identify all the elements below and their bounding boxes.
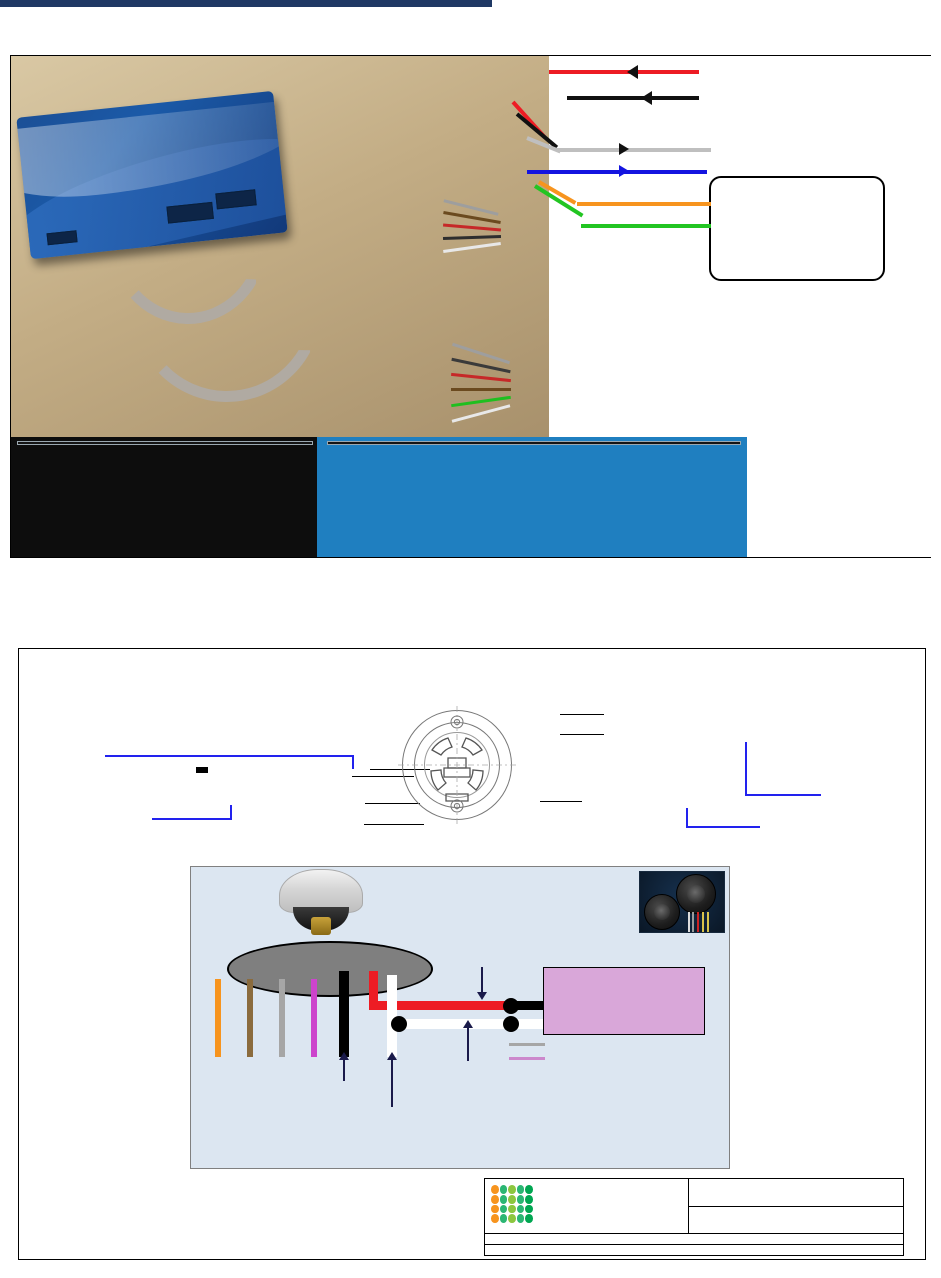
wire-ballast-violet <box>509 1057 545 1060</box>
ballast-driver-box <box>543 967 705 1035</box>
receptacle-technical-drawing <box>398 706 516 824</box>
junction-dot <box>503 1016 519 1032</box>
receptacle-inset-photo <box>639 871 725 933</box>
title-block-meta <box>689 1179 903 1233</box>
device-port <box>47 230 78 245</box>
wire-driver-green <box>581 224 711 228</box>
title-block-partnumber-row <box>485 1245 903 1255</box>
title-block-top-row <box>485 1179 903 1234</box>
blue-backdrop <box>317 437 747 557</box>
arrow-driver-grey-icon <box>619 143 629 155</box>
drawing-title-block <box>484 1178 904 1256</box>
leader-digital-v <box>686 808 688 828</box>
inset-wire-white <box>688 912 690 933</box>
controller-photo <box>11 56 549 437</box>
leader-pin1-v <box>352 755 354 769</box>
leader-digital-h <box>686 826 760 828</box>
receptacle-contacts-svg <box>398 706 516 824</box>
wire-dc-plus <box>549 70 699 74</box>
wire-fan-lower <box>451 352 541 426</box>
drawn-by-field <box>689 1179 903 1207</box>
table-18awg-header <box>328 442 741 445</box>
wire-fan-upper <box>443 204 523 256</box>
stub-pin6 <box>215 979 221 1057</box>
device-port <box>166 202 214 224</box>
arrow-load-out-icon <box>481 967 483 993</box>
inset-wire-yellow <box>702 912 704 933</box>
wiring-panel <box>190 866 730 1169</box>
junction-dot <box>391 1016 407 1032</box>
leader-violet <box>560 734 604 735</box>
table-24awg <box>17 441 313 445</box>
arrow-dc-plus-icon <box>627 65 638 79</box>
inset-wire-grey <box>692 912 694 933</box>
wire-ballast-grey <box>509 1043 545 1046</box>
table-18awg <box>327 441 741 445</box>
islc-controller-device <box>16 91 287 259</box>
leader-black <box>560 714 604 715</box>
stub-pin5 <box>311 979 317 1057</box>
white-backdrop <box>747 437 931 557</box>
arrow-line-in-icon <box>343 1059 345 1081</box>
seven-pin-hub <box>227 941 433 997</box>
leader-analog-v <box>230 805 232 820</box>
arrow-driver-blue-icon <box>619 165 629 177</box>
cimcon-logo <box>485 1179 689 1233</box>
wire-dc-minus <box>567 96 699 100</box>
wire-driver-grey <box>557 148 711 152</box>
wire-driver-blue <box>527 170 707 174</box>
wire-driver-orange <box>577 202 711 206</box>
top-accent-bar <box>0 0 492 7</box>
receptacle-photo-left <box>644 894 680 930</box>
device-port <box>215 189 256 209</box>
schematic-area <box>549 56 931 437</box>
part-number-field <box>485 1245 501 1255</box>
description-field <box>485 1234 501 1244</box>
stub-pin7 <box>247 979 253 1057</box>
arrow-neutral-upper-icon <box>467 1027 469 1061</box>
wire-line-in-black <box>339 971 349 1057</box>
leader-pin5-h <box>745 794 821 796</box>
leader-analog-h <box>152 818 232 820</box>
photocell-sensor-photo <box>273 869 369 941</box>
logo-dots-icon <box>491 1185 533 1223</box>
junction-dot <box>503 998 519 1014</box>
date-rev-field <box>689 1207 903 1234</box>
callout-white-wire <box>196 767 208 773</box>
leader-pin5-v <box>745 742 747 796</box>
stub-pin4 <box>279 979 285 1057</box>
arrow-dc-minus-icon <box>641 91 652 105</box>
inset-wire-yellow <box>707 912 709 933</box>
leader-orange <box>540 801 582 802</box>
arrow-neutral-lower-icon <box>391 1059 393 1107</box>
table-24awg-header <box>18 442 313 445</box>
title-block-description-row <box>485 1234 903 1245</box>
driver-box <box>709 176 885 281</box>
leader-pin1-h <box>105 755 354 757</box>
leader-red <box>364 824 424 825</box>
awg-table-zone <box>11 437 931 557</box>
receptacle-photo-right <box>676 874 716 914</box>
sensor-pins <box>311 917 331 935</box>
inset-wire-red <box>697 912 699 933</box>
figure-islc-wiring-diagram <box>10 55 931 558</box>
